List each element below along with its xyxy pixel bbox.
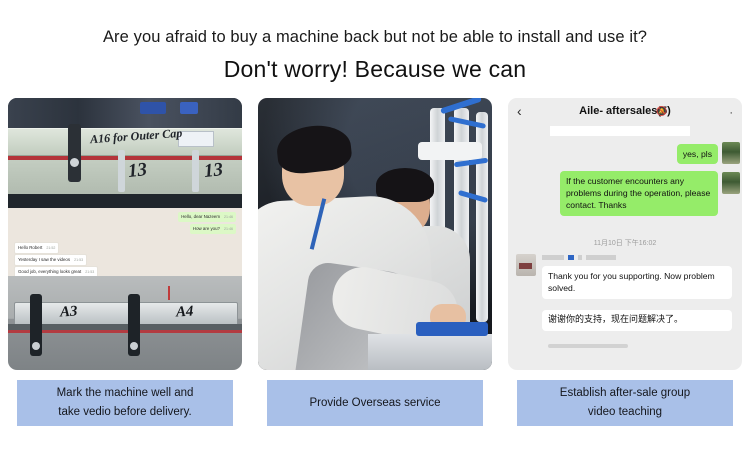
whatsapp-chat-strip: Hello, dear Nazeem21:46 How are you?21:4… — [8, 208, 242, 276]
rail-post-b — [192, 150, 199, 192]
headline-question: Are you afraid to buy a machine back but… — [0, 28, 750, 47]
wechat-bubble-outgoing: yes, pls — [677, 144, 718, 164]
handwriting-a4: A4 — [176, 304, 194, 322]
redacted-message — [550, 126, 690, 136]
panel-after-sale-group: ‹ Aile- aftersales(5) 🔕 · yes, pls If th… — [508, 98, 742, 438]
marker-pin — [168, 286, 170, 300]
rail-clamp-right — [128, 294, 140, 356]
chat-bubble-outgoing: Hello, dear Nazeem21:46 — [178, 212, 236, 222]
caption-after-sale-group: Establish after-sale group video teachin… — [517, 380, 733, 426]
photo-technicians-assembling-machine — [258, 98, 492, 370]
caption-marking: Mark the machine well and take vedio bef… — [17, 380, 233, 426]
machine-head — [418, 142, 482, 160]
sender-name-redacted — [542, 255, 620, 260]
photo-machine-rail-top: A16 for Outer Cap 13 13 — [8, 98, 242, 208]
headline-statement: Don't worry! Because we can — [0, 56, 750, 83]
wechat-bubble-incoming-chinese: 谢谢你的支持，现在问题解决了。 — [542, 310, 732, 331]
technician-back-hair — [376, 168, 434, 202]
avatar[interactable] — [516, 254, 536, 276]
rail-shadow — [8, 194, 242, 208]
photo-machine-rail-bottom: A3 A4 — [8, 276, 242, 370]
caption-line-1: Provide Overseas service — [309, 394, 440, 413]
rail-red-line — [8, 330, 242, 333]
rail-post-a — [118, 150, 125, 192]
blue-fixture-plate — [416, 322, 488, 336]
caption-line-1: Establish after-sale group — [560, 384, 690, 403]
rail-clamp — [68, 124, 81, 182]
panel-overseas-service: Provide Overseas service — [258, 98, 492, 438]
more-dots-icon[interactable]: · — [729, 107, 734, 119]
message-thumbnail[interactable] — [722, 142, 740, 164]
chat-bubble-outgoing: How are you?21:46 — [190, 224, 236, 234]
machine-backdrop — [8, 98, 242, 129]
wechat-bubble-incoming: Thank you for you supporting. Now proble… — [542, 266, 732, 299]
panel-marking-media: A16 for Outer Cap 13 13 Hello, dear Naze… — [8, 98, 242, 370]
blue-part-2 — [180, 102, 198, 114]
wechat-group-title: Aile- aftersales(5) — [508, 105, 742, 117]
chat-bubble-incoming: Good job, everything looks great21:53 — [14, 266, 98, 276]
caption-line-2: take vedio before delivery. — [58, 403, 191, 422]
wechat-header: ‹ Aile- aftersales(5) 🔕 · — [508, 98, 742, 126]
machine-sticker — [178, 131, 214, 147]
blue-part — [140, 102, 166, 114]
handwriting-13-a: 13 — [127, 159, 148, 183]
wechat-bubble-outgoing: If the customer encounters any problems … — [560, 171, 718, 216]
redacted-footer — [548, 344, 628, 348]
chat-bubble-incoming: Yesterday I saw the videos21:53 — [14, 254, 87, 266]
message-thumbnail[interactable] — [722, 172, 740, 194]
caption-line-1: Mark the machine well and — [57, 384, 194, 403]
message-timestamp: 11月10日 下午16:02 — [508, 238, 742, 248]
rail-bar — [14, 302, 238, 326]
handwriting-a3: A3 — [60, 304, 78, 322]
panel-row: A16 for Outer Cap 13 13 Hello, dear Naze… — [0, 98, 750, 438]
caption-overseas-service: Provide Overseas service — [267, 380, 483, 426]
handwriting-13-b: 13 — [203, 159, 224, 183]
wechat-screenshot: ‹ Aile- aftersales(5) 🔕 · yes, pls If th… — [508, 98, 742, 370]
rail-clamp-left — [30, 294, 42, 356]
chat-bubble-incoming: Hello Robert21:52 — [14, 242, 59, 254]
panel-marking: A16 for Outer Cap 13 13 Hello, dear Naze… — [8, 98, 242, 438]
work-bench — [368, 334, 492, 370]
mute-bell-icon[interactable]: 🔕 — [656, 106, 667, 117]
caption-line-2: video teaching — [588, 403, 662, 422]
promo-banner: Are you afraid to buy a machine back but… — [0, 0, 750, 450]
